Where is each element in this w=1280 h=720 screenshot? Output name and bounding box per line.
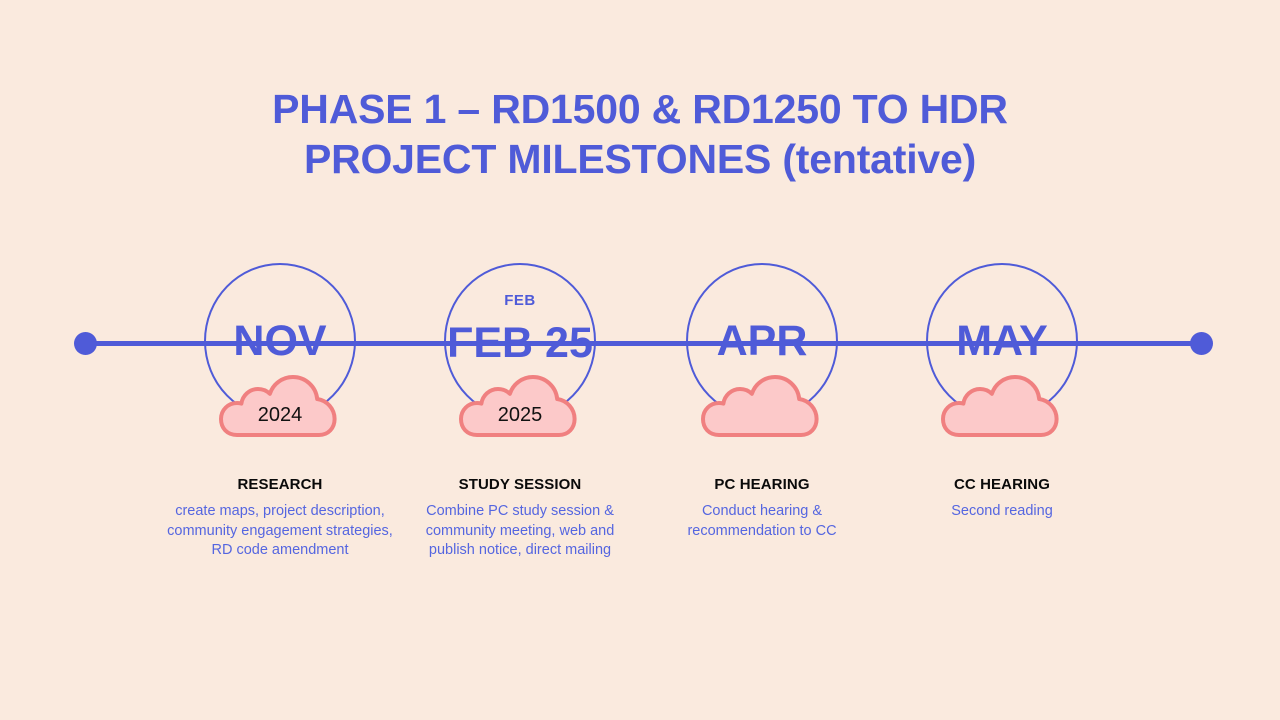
milestone-caption-feb: STUDY SESSION Combine PC study session &… [425,476,615,561]
cloud-year-label: 2025 [459,404,581,427]
milestone-node-apr[interactable]: APR [652,255,872,455]
caption-title: PC HEARING [662,476,862,493]
cloud-icon: 2025 [459,375,581,437]
page-title-line-2: PROJECT MILESTONES (tentative) [0,134,1280,184]
caption-title: CC HEARING [887,476,1117,493]
milestone-node-feb[interactable]: FEB FEB 25 2025 [410,255,630,455]
caption-body: Combine PC study session & community mee… [425,502,615,561]
milestone-caption-may: CC HEARING Second reading [887,476,1117,522]
timeline: NOV 2024 FEB FEB 25 2025 APR [0,255,1280,455]
cloud-icon: 2024 [219,375,341,437]
cloud-icon [941,375,1063,437]
milestone-month-label: APR [652,315,872,367]
timeline-start-dot-icon [74,332,97,355]
milestone-month-label: NOV [170,315,390,367]
page-title-line-1: PHASE 1 – RD1500 & RD1250 TO HDR [0,84,1280,134]
milestone-caption-apr: PC HEARING Conduct hearing & recommendat… [662,476,862,541]
milestone-caption-nov: RESEARCH create maps, project descriptio… [165,476,395,561]
caption-body: create maps, project description, commun… [165,502,395,561]
cloud-icon [701,375,823,437]
caption-body: Second reading [887,502,1117,522]
caption-title: STUDY SESSION [425,476,615,493]
milestone-node-nov[interactable]: NOV 2024 [170,255,390,455]
cloud-year-label: 2024 [219,404,341,427]
page-title: PHASE 1 – RD1500 & RD1250 TO HDR PROJECT… [0,84,1280,184]
milestone-month-label: FEB 25 [410,317,630,369]
timeline-end-dot-icon [1190,332,1213,355]
milestone-node-may[interactable]: MAY [892,255,1112,455]
caption-title: RESEARCH [165,476,395,493]
caption-body: Conduct hearing & recommendation to CC [662,502,862,541]
milestone-month-label: MAY [892,315,1112,367]
milestone-sublabel: FEB [410,292,630,309]
